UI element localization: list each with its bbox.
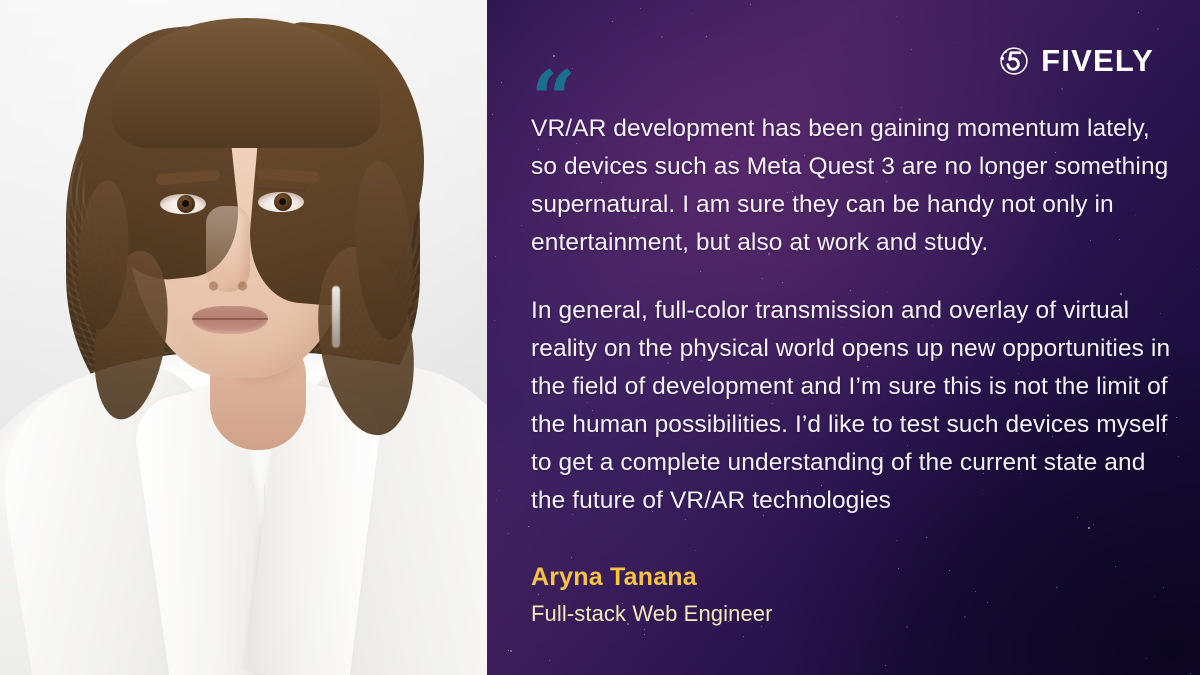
brand-wordmark: FIVELY <box>1041 45 1154 76</box>
quote-card: FIVELY “ VR/AR development has been gain… <box>0 0 1200 675</box>
quote-content: FIVELY “ VR/AR development has been gain… <box>487 0 1200 675</box>
lips <box>192 306 268 334</box>
nostrils <box>202 278 254 294</box>
earring <box>332 286 340 348</box>
quote-paragraph: VR/AR development has been gaining momen… <box>531 110 1176 262</box>
quote-paragraph: In general, full-color transmission and … <box>531 292 1176 520</box>
pupil-left <box>182 200 189 207</box>
lip-line <box>192 318 268 320</box>
brand-logo[interactable]: FIVELY <box>997 44 1154 77</box>
pupil-right <box>279 198 286 205</box>
quote-text-block: VR/AR development has been gaining momen… <box>531 110 1184 520</box>
quote-panel: FIVELY “ VR/AR development has been gain… <box>487 0 1200 675</box>
fively-circle-5-logo-icon <box>997 44 1030 77</box>
portrait-subject <box>0 0 487 675</box>
author-name: Aryna Tanana <box>531 562 773 593</box>
attribution: Aryna Tanana Full-stack Web Engineer <box>531 562 773 628</box>
author-role: Full-stack Web Engineer <box>531 600 773 628</box>
portrait-photo <box>0 0 487 675</box>
